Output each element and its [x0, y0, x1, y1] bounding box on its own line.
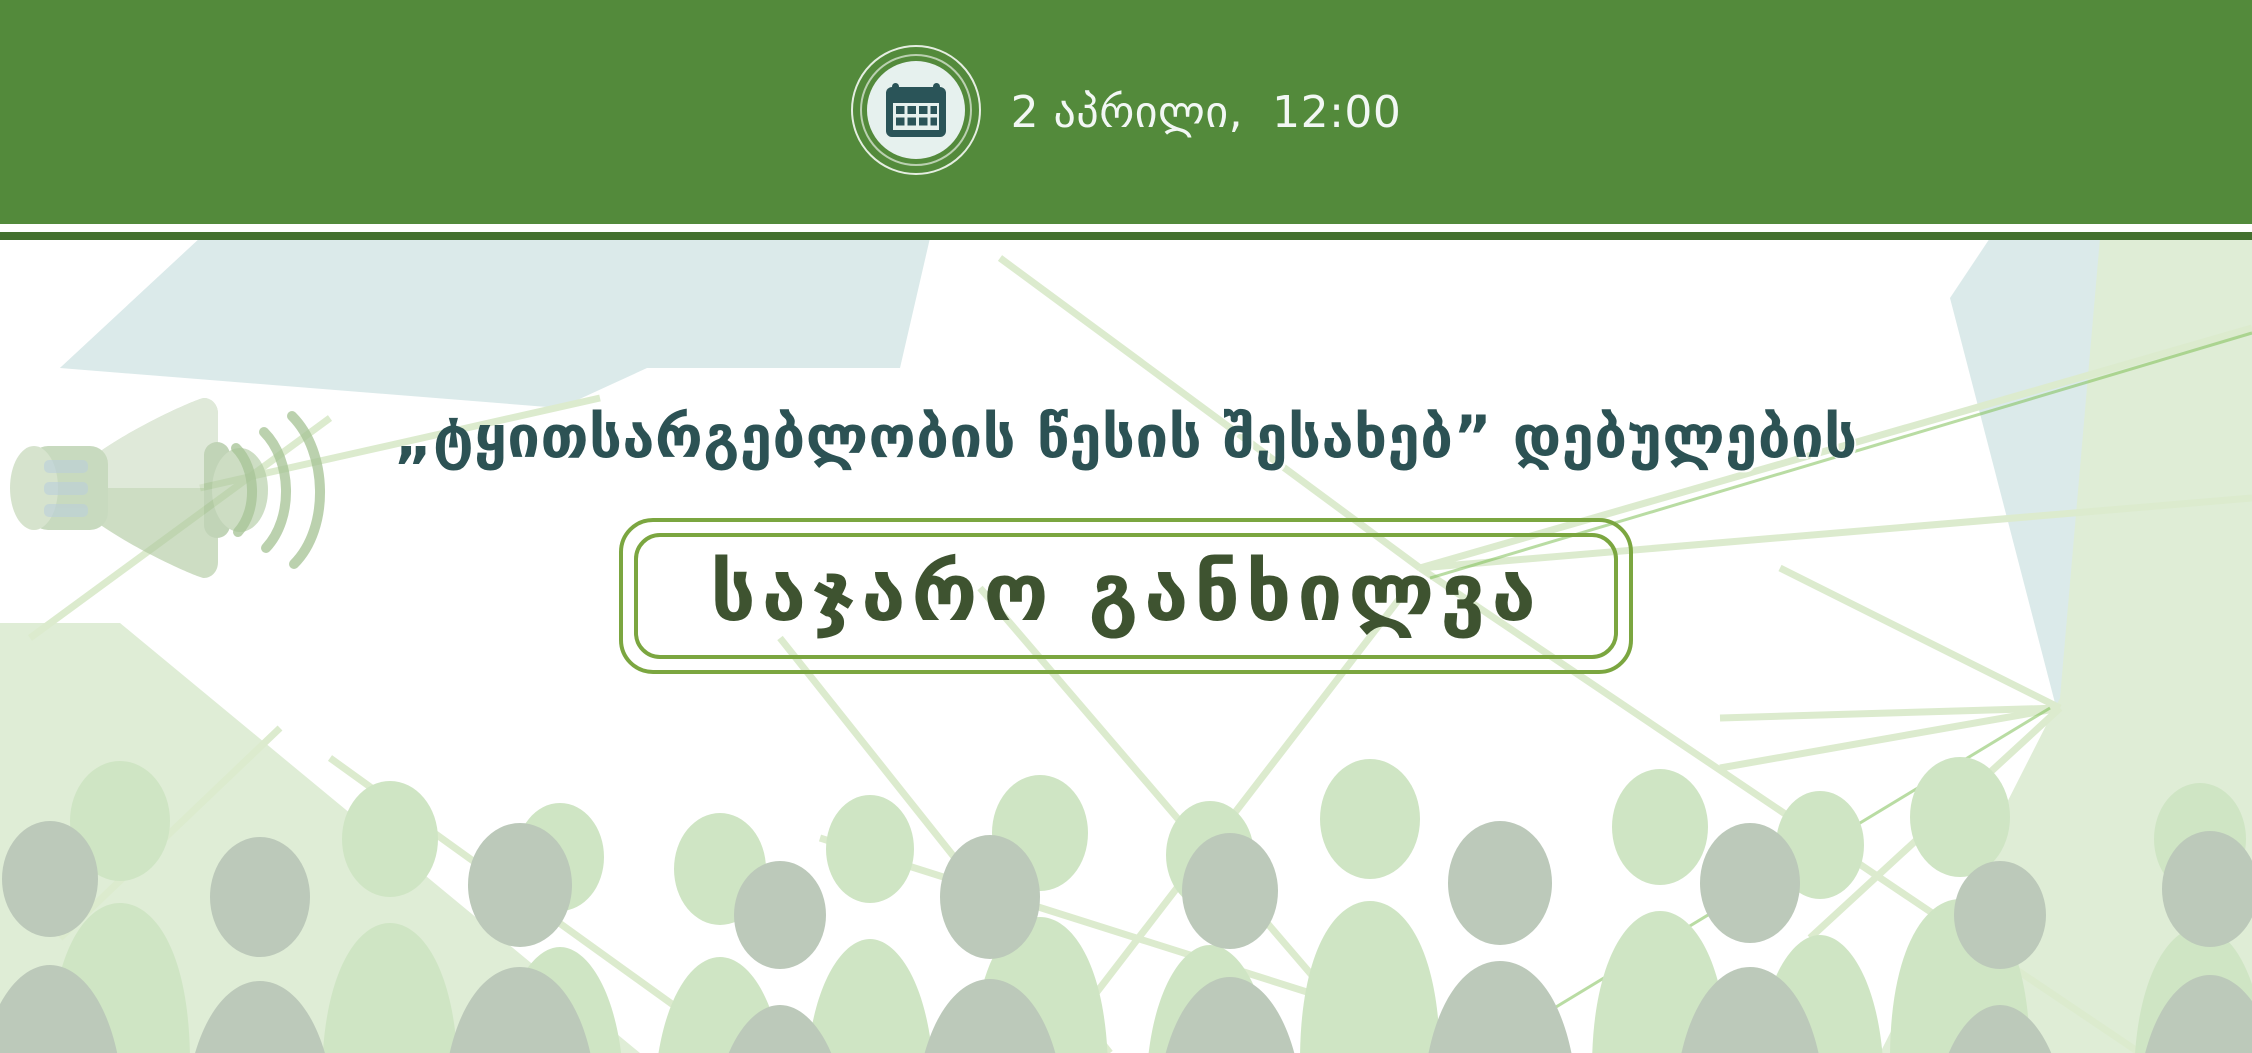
- callout-inner-border: საჯარო განხილვა: [634, 533, 1618, 659]
- callout-outer-border: საჯარო განხილვა: [619, 518, 1633, 674]
- main-content: „ტყითსარგებლობის წესის შესახებ” დებულები…: [0, 238, 2252, 674]
- header-divider-rule: [0, 232, 2252, 240]
- header-bar: 2 აპრილი, 12:00: [0, 0, 2252, 224]
- header-content: 2 აპრილი, 12:00: [0, 0, 2252, 224]
- poster-canvas: 2 აპრილი, 12:00 „ტყითსარგებლობის წესის შ…: [0, 0, 2252, 1053]
- callout-label: საჯარო განხილვა: [710, 551, 1542, 635]
- calendar-badge: [851, 45, 985, 179]
- header-datetime-label: 2 აპრილი, 12:00: [1011, 87, 1402, 138]
- callout-container: საჯარო განხილვა: [0, 518, 2252, 674]
- page-title: „ტყითსარგებლობის წესის შესახებ” დებულები…: [0, 406, 2252, 470]
- calendar-icon: [867, 61, 965, 159]
- crowd-back-row: [50, 757, 2252, 1053]
- crowd-silhouette: [0, 753, 2252, 1053]
